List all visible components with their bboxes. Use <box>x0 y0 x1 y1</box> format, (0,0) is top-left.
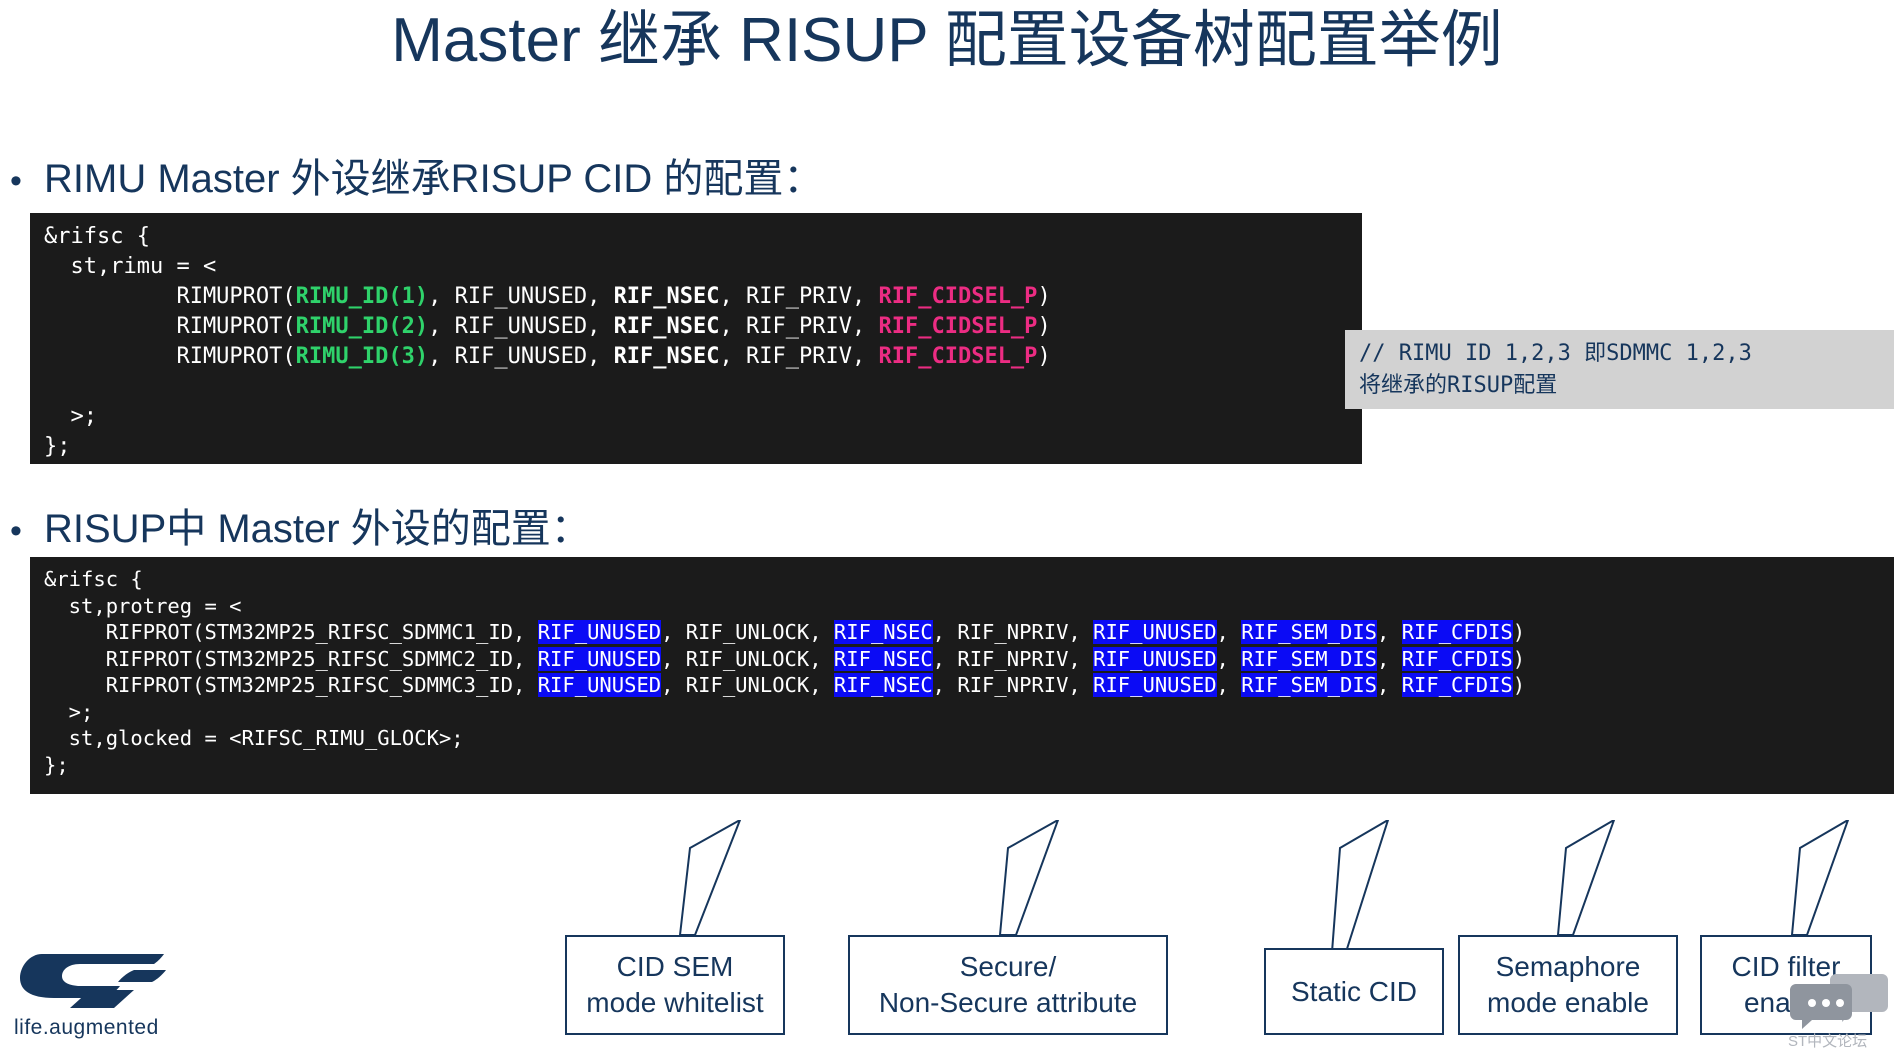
callout-tail-5 <box>1740 820 1894 950</box>
bullet-marker-2: • <box>10 507 44 555</box>
code-token: RIFPROT( <box>44 673 204 697</box>
code-token: , RIF_UNLOCK, <box>661 620 834 644</box>
code-token: STM32MP25_RIFSC_SDMMC2_ID <box>204 647 513 671</box>
code-token: RIFPROT( <box>44 647 204 671</box>
code-token-nsec: RIF_NSEC <box>614 314 720 339</box>
code-token-nsec: RIF_NSEC <box>614 344 720 369</box>
bullet-item-2: • RISUP中 Master 外设的配置： <box>10 505 591 555</box>
page-title: Master 继承 RISUP 配置设备树配置举例 <box>0 2 1894 80</box>
st-logo: life.augmented <box>14 948 174 1048</box>
code-line: RIMUPROT(RIMU_ID(3), RIF_UNUSED, RIF_NSE… <box>30 342 1362 372</box>
code-line: >; <box>30 699 1894 726</box>
code-token: , <box>513 620 538 644</box>
code-token-highlighted: RIF_UNUSED <box>538 620 661 644</box>
st-logo-tagline: life.augmented <box>14 1016 159 1040</box>
callout-static-cid: Static CID <box>1264 948 1444 1035</box>
code-line: }; <box>30 432 1362 462</box>
code-token: STM32MP25_RIFSC_SDMMC3_ID <box>204 673 513 697</box>
code-token: , <box>1377 620 1402 644</box>
code-token-cidsel: RIF_CIDSEL_P <box>878 314 1037 339</box>
code-line: &rifsc { <box>30 222 1362 252</box>
speech-bubble-icon <box>1786 972 1894 1030</box>
comment-note: // RIMU ID 1,2,3 即SDMMC 1,2,3 将继承的RISUP配… <box>1345 330 1894 409</box>
code-token: , RIF_NPRIV, <box>933 620 1093 644</box>
code-line: st,glocked = <RIFSC_RIMU_GLOCK>; <box>30 725 1894 752</box>
code-line: st,protreg = < <box>30 593 1894 620</box>
code-token: , RIF_PRIV, <box>720 344 879 369</box>
code-line-rifprot: RIFPROT(STM32MP25_RIFSC_SDMMC2_ID, RIF_U… <box>30 646 1894 673</box>
code-token: RIMUPROT( <box>44 344 296 369</box>
callout-semaphore-mode-enable: Semaphore mode enable <box>1458 935 1678 1035</box>
code-token-highlighted: RIF_SEM_DIS <box>1241 620 1377 644</box>
code-token-highlighted: RIF_UNUSED <box>538 673 661 697</box>
code-token: , <box>513 673 538 697</box>
code-token: , RIF_PRIV, <box>720 314 879 339</box>
callout-secure-nonsecure-attribute: Secure/ Non-Secure attribute <box>848 935 1168 1035</box>
code-token: RIFPROT( <box>44 620 204 644</box>
code-line: RIMUPROT(RIMU_ID(1), RIF_UNUSED, RIF_NSE… <box>30 282 1362 312</box>
code-token: , RIF_UNUSED, <box>428 314 613 339</box>
code-token: , RIF_PRIV, <box>720 284 879 309</box>
code-token: ) <box>1513 647 1525 671</box>
bullet-label-2: RISUP中 Master 外设的配置： <box>44 505 591 553</box>
code-token: , RIF_UNUSED, <box>428 344 613 369</box>
code-token-highlighted: RIF_UNUSED <box>1093 647 1216 671</box>
code-token: RIMUPROT( <box>44 284 296 309</box>
code-line: st,rimu = < <box>30 252 1362 282</box>
code-token-highlighted: RIF_NSEC <box>834 620 933 644</box>
code-token: , <box>1217 647 1242 671</box>
code-token-highlighted: RIF_NSEC <box>834 647 933 671</box>
st-logo-icon <box>14 948 174 1014</box>
forum-watermark: ST中文论坛 <box>1786 972 1894 1054</box>
code-token-highlighted: RIF_CFDIS <box>1402 673 1513 697</box>
code-token: , <box>513 647 538 671</box>
code-line-rifprot: RIFPROT(STM32MP25_RIFSC_SDMMC3_ID, RIF_U… <box>30 672 1894 699</box>
code-token: , <box>1217 673 1242 697</box>
code-line-rifprot: RIFPROT(STM32MP25_RIFSC_SDMMC1_ID, RIF_U… <box>30 619 1894 646</box>
code-token: , <box>1377 673 1402 697</box>
code-token-nsec: RIF_NSEC <box>614 284 720 309</box>
callout-tail-4 <box>1500 820 1700 950</box>
code-token-highlighted: RIF_CFDIS <box>1402 647 1513 671</box>
code-token: , <box>1217 620 1242 644</box>
code-token: STM32MP25_RIFSC_SDMMC1_ID <box>204 620 513 644</box>
code-token-highlighted: RIF_NSEC <box>834 673 933 697</box>
code-token-cidsel: RIF_CIDSEL_P <box>878 344 1037 369</box>
code-token: , RIF_UNLOCK, <box>661 647 834 671</box>
code-line-blank <box>30 372 1362 402</box>
code-token-cidsel: RIF_CIDSEL_P <box>878 284 1037 309</box>
code-token: , <box>1377 647 1402 671</box>
slide-canvas: Master 继承 RISUP 配置设备树配置举例 • RIMU Master … <box>0 0 1894 1057</box>
code-token: ) <box>1037 314 1050 339</box>
code-token: , RIF_NPRIV, <box>933 647 1093 671</box>
code-token-rimu-id: RIMU_ID(3) <box>296 344 428 369</box>
code-token-highlighted: RIF_SEM_DIS <box>1241 647 1377 671</box>
code-token: ) <box>1513 620 1525 644</box>
code-token: , RIF_UNUSED, <box>428 284 613 309</box>
bullet-label-1: RIMU Master 外设继承RISUP CID 的配置： <box>44 155 823 203</box>
code-block-risup: &rifsc { st,protreg = < RIFPROT(STM32MP2… <box>30 557 1894 794</box>
code-token: RIMUPROT( <box>44 314 296 339</box>
code-token: , RIF_UNLOCK, <box>661 673 834 697</box>
code-token: ) <box>1513 673 1525 697</box>
code-token: ) <box>1037 284 1050 309</box>
code-line: &rifsc { <box>30 566 1894 593</box>
rifprot-rows: RIFPROT(STM32MP25_RIFSC_SDMMC1_ID, RIF_U… <box>30 619 1894 699</box>
callout-tail-1 <box>560 820 800 950</box>
code-token-rimu-id: RIMU_ID(1) <box>296 284 428 309</box>
code-token-rimu-id: RIMU_ID(2) <box>296 314 428 339</box>
code-token-highlighted: RIF_SEM_DIS <box>1241 673 1377 697</box>
code-token-highlighted: RIF_UNUSED <box>538 647 661 671</box>
code-line: >; <box>30 402 1362 432</box>
code-token-highlighted: RIF_CFDIS <box>1402 620 1513 644</box>
code-line: RIMUPROT(RIMU_ID(2), RIF_UNUSED, RIF_NSE… <box>30 312 1362 342</box>
code-token-highlighted: RIF_UNUSED <box>1093 673 1216 697</box>
code-block-rimu: &rifsc { st,rimu = < RIMUPROT(RIMU_ID(1)… <box>30 213 1362 464</box>
bullet-marker-1: • <box>10 157 44 205</box>
code-line: }; <box>30 752 1894 779</box>
callout-tail-3 <box>1280 820 1460 965</box>
code-token-highlighted: RIF_UNUSED <box>1093 620 1216 644</box>
bullet-item-1: • RIMU Master 外设继承RISUP CID 的配置： <box>10 155 823 205</box>
watermark-label: ST中文论坛 <box>1788 1030 1867 1051</box>
code-token: ) <box>1037 344 1050 369</box>
callout-tail-2 <box>940 820 1140 950</box>
callout-cid-sem-mode-whitelist: CID SEM mode whitelist <box>565 935 785 1035</box>
code-token: , RIF_NPRIV, <box>933 673 1093 697</box>
